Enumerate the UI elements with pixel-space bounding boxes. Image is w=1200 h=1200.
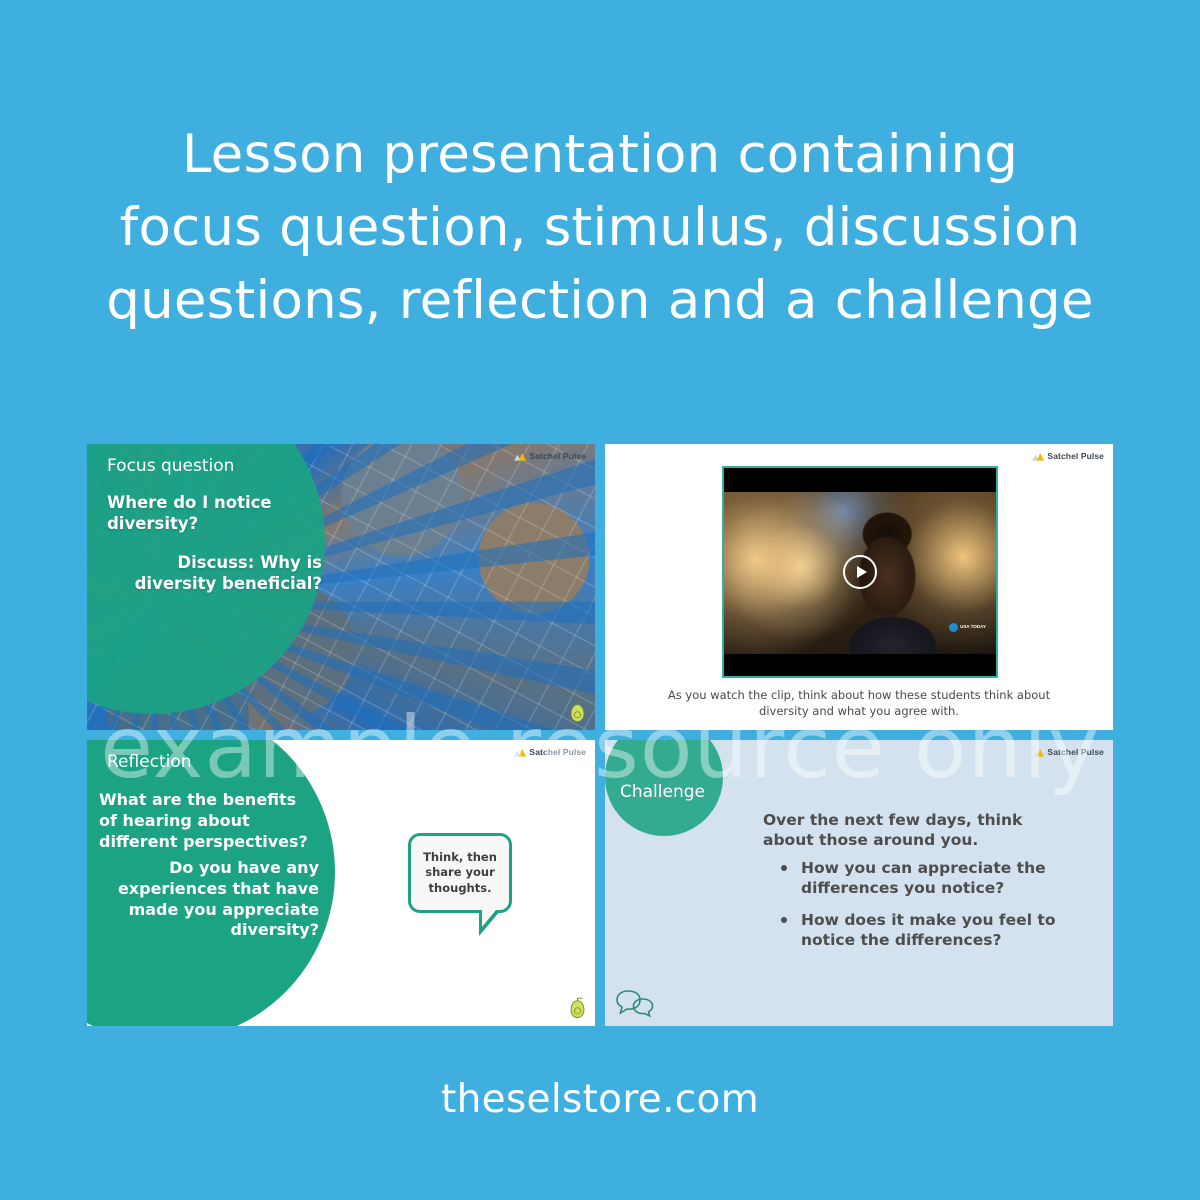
slide-eyebrow-challenge: Challenge [620,782,705,802]
page-title-line-1: Lesson presentation containing [60,118,1140,191]
focus-question-discuss: Discuss: Why is diversity beneficial? [107,552,322,594]
pear-mascot-icon [569,997,586,1019]
footer-website-url: theselstore.com [0,1077,1200,1122]
slide-video-stimulus[interactable]: Satchel Pulse USA TODAY As you watch the… [605,444,1113,730]
satchel-pulse-logo: Satchel Pulse [1032,747,1104,757]
challenge-bullet-list: How you can appreciate the differences y… [763,858,1101,963]
satchel-pulse-logo: Satchel Pulse [514,451,586,461]
list-item: How you can appreciate the differences y… [781,858,1101,898]
play-icon[interactable] [843,555,877,589]
slide-focus-question[interactable]: Focus question Where do I notice diversi… [87,444,595,730]
usa-today-badge: USA TODAY [949,623,986,632]
video-player[interactable]: USA TODAY [722,466,998,678]
speech-bubbles-icon [615,988,655,1018]
pear-mascot-icon [569,701,586,723]
challenge-intro-text: Over the next few days, think about thos… [763,810,1073,850]
slide-eyebrow-reflection: Reflection [107,752,192,772]
mountain-icon [514,748,526,757]
mountain-icon [1032,748,1044,757]
reflection-question-secondary: Do you have any experiences that have ma… [99,858,319,941]
slide-thumbnail-grid: Focus question Where do I notice diversi… [87,444,1113,1026]
usa-today-dot-icon [949,623,958,632]
video-caption: As you watch the clip, think about how t… [645,687,1073,719]
page-title-line-2: focus question, stimulus, discussion [60,191,1140,264]
reflection-question-primary: What are the benefits of hearing about d… [99,790,319,852]
mountain-icon [1032,452,1044,461]
satchel-pulse-logo-text: Satchel Pulse [529,451,586,461]
satchel-pulse-logo-text: Satchel Pulse [1047,747,1104,757]
satchel-pulse-logo: Satchel Pulse [514,747,586,757]
page-title-line-3: questions, reflection and a challenge [60,264,1140,337]
speech-bubble-text: Think, then share your thoughts. [411,850,509,896]
slide-eyebrow-focus: Focus question [107,456,234,476]
satchel-pulse-logo-text: Satchel Pulse [1047,451,1104,461]
focus-question-primary: Where do I notice diversity? [107,492,322,534]
slide-challenge[interactable]: Challenge Over the next few days, think … [605,740,1113,1026]
slide-reflection[interactable]: Reflection What are the benefits of hear… [87,740,595,1026]
page-title: Lesson presentation containing focus que… [60,118,1140,337]
play-triangle-icon [857,566,867,578]
usa-today-badge-text: USA TODAY [960,625,986,630]
satchel-pulse-logo-text: Satchel Pulse [529,747,586,757]
satchel-pulse-logo: Satchel Pulse [1032,451,1104,461]
speech-bubble-tail-inner [482,910,496,927]
mountain-icon [514,452,526,461]
speech-bubble-callout: Think, then share your thoughts. [408,833,512,913]
list-item: How does it make you feel to notice the … [781,910,1101,950]
